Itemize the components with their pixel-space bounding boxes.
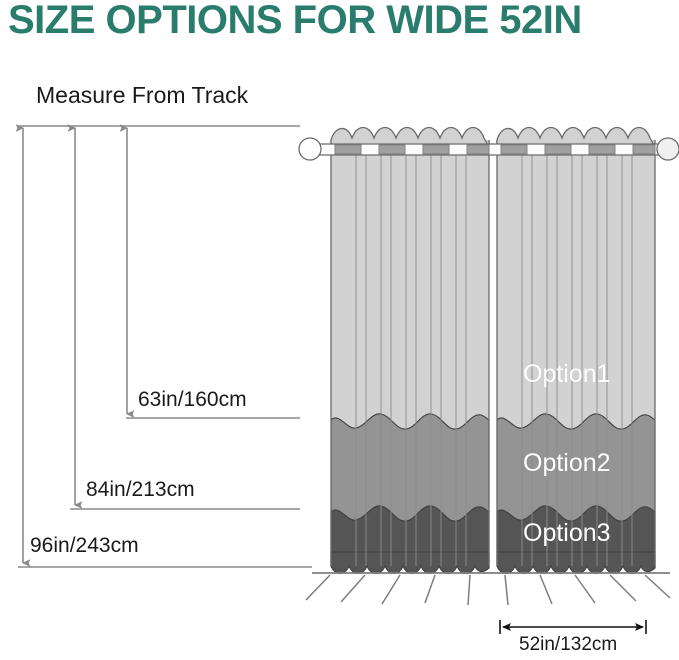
hem-scallop-left [331,552,489,574]
width-dimension [500,620,646,634]
hem-scallop-right [497,552,655,574]
dimension-label-width: 52in/132cm [519,634,617,656]
option-label-3: Option3 [523,519,611,548]
option-label-1: Option1 [523,360,611,389]
option-label-2: Option2 [523,449,611,478]
dimension-label-option1: 63in/160cm [138,388,247,412]
rod-finial-right [657,138,679,160]
curtain-panel-right [497,128,655,574]
diagram-canvas: SIZE OPTIONS FOR WIDE 52IN Measure From … [0,0,679,660]
rod-finial-left [299,138,321,160]
curtain-panel-left [331,128,489,583]
dimension-label-option2: 84in/213cm [86,478,195,502]
floor-hatch-icon [306,573,670,605]
dimension-label-option3: 96in/243cm [30,534,139,558]
diagram-graphics [0,0,679,660]
